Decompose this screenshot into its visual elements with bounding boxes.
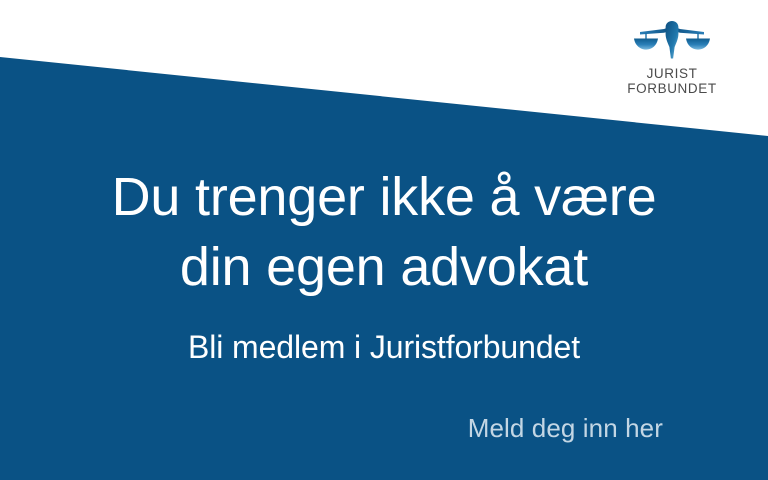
brand-logo[interactable]: JURIST FORBUNDET bbox=[620, 16, 724, 96]
headline: Du trenger ikke å være din egen advokat bbox=[0, 162, 768, 302]
subtitle: Bli medlem i Juristforbundet bbox=[0, 327, 768, 367]
headline-line-2: din egen advokat bbox=[0, 232, 768, 302]
signup-cta-link[interactable]: Meld deg inn her bbox=[0, 411, 663, 445]
scales-of-justice-icon bbox=[630, 16, 714, 60]
logo-name-line-2: FORBUNDET bbox=[620, 81, 724, 96]
headline-line-1: Du trenger ikke å være bbox=[0, 162, 768, 232]
logo-wordmark: JURIST FORBUNDET bbox=[620, 66, 724, 96]
advertisement-banner[interactable]: JURIST FORBUNDET Du trenger ikke å være … bbox=[0, 0, 768, 480]
logo-name-line-1: JURIST bbox=[647, 66, 698, 81]
